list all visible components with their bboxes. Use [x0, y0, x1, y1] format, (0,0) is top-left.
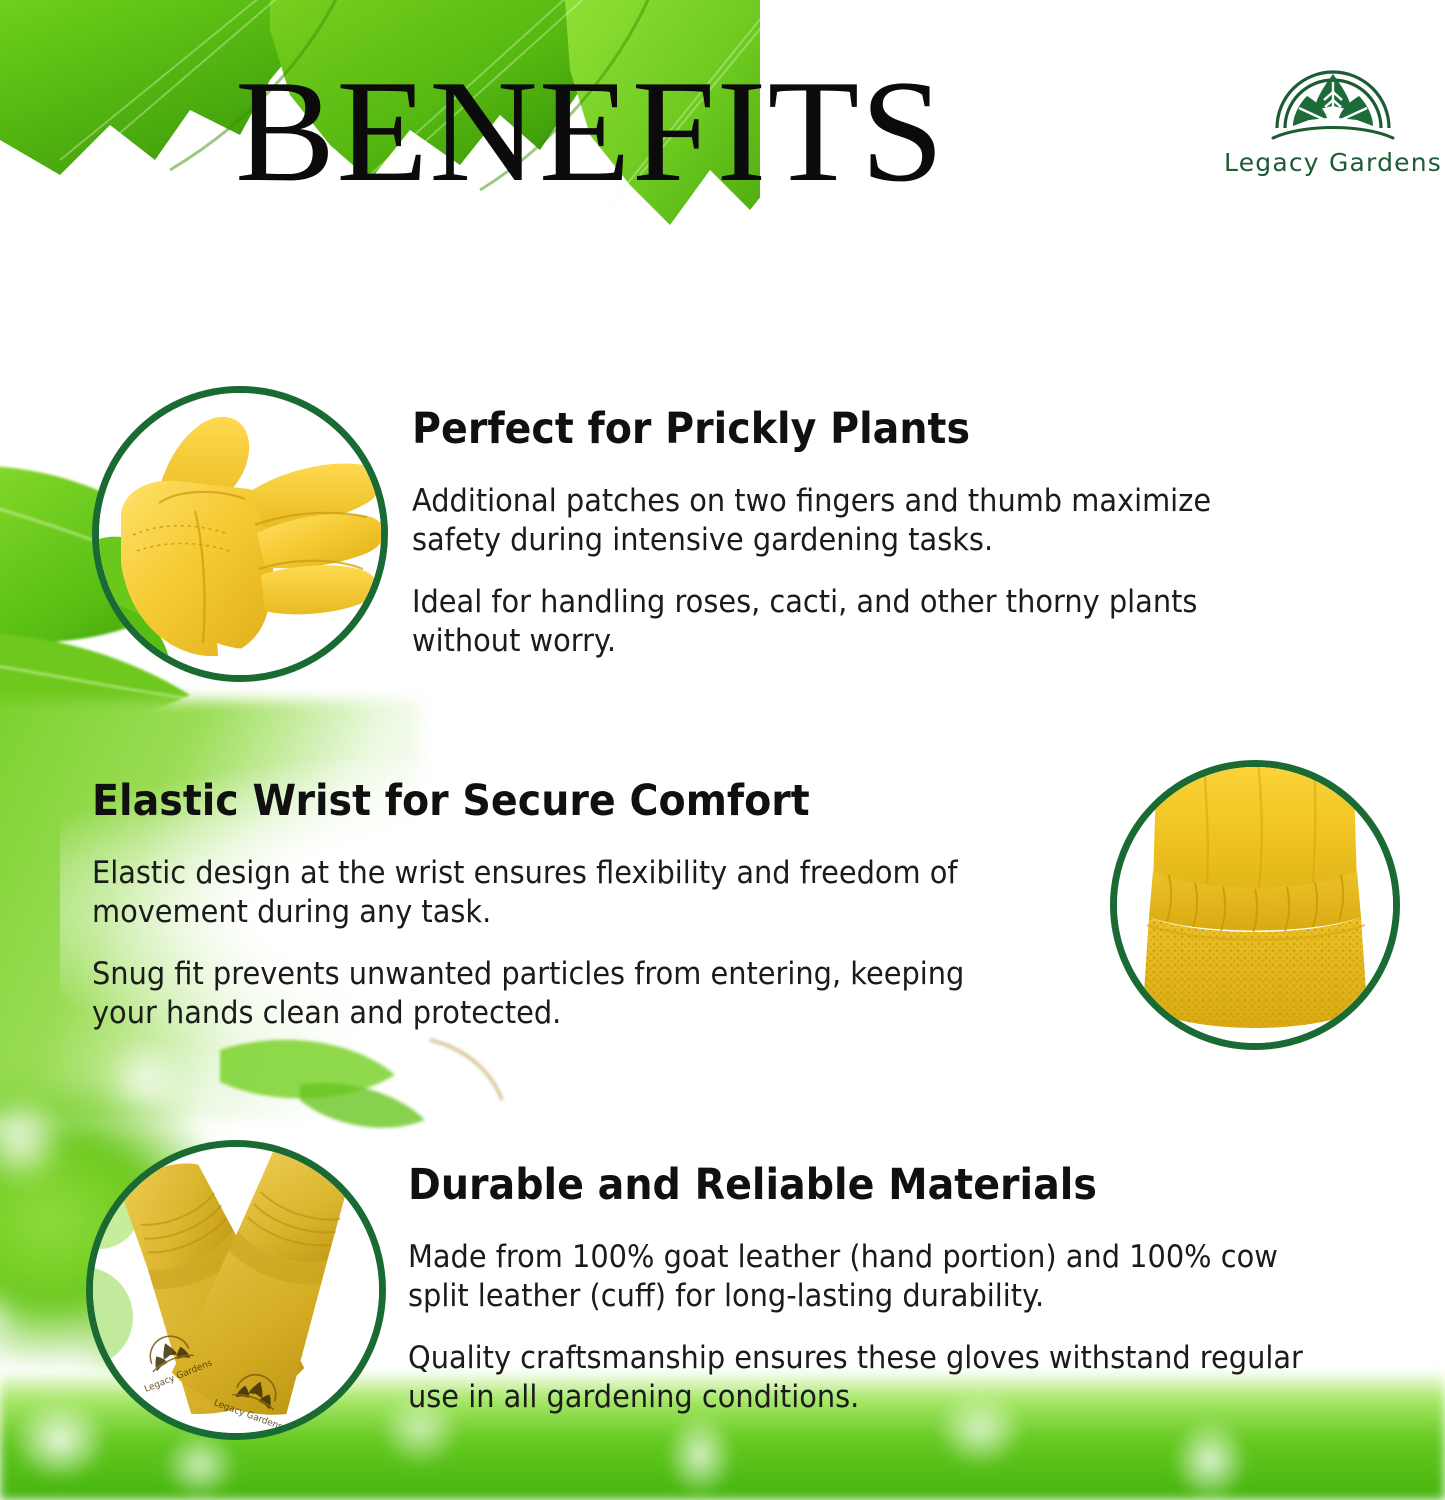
benefits-infographic: BENEFITS Legacy Gardens: [0, 0, 1445, 1500]
benefit-row-durable-materials: Legacy Gardens Legacy Gardens Durable an…: [86, 1140, 1388, 1440]
benefit-image-elastic-wrist: [1110, 760, 1400, 1050]
benefit-heading: Perfect for Prickly Plants: [412, 406, 1295, 452]
benefit-image-prickly-plants: [92, 386, 388, 682]
benefit-paragraph: Quality craftsmanship ensures these glov…: [408, 1339, 1319, 1417]
benefit-heading: Durable and Reliable Materials: [408, 1162, 1310, 1208]
benefit-paragraph: Ideal for handling roses, cacti, and oth…: [412, 583, 1305, 661]
benefit-paragraph: Snug fit prevents unwanted particles fro…: [92, 955, 1022, 1033]
benefit-paragraph: Made from 100% goat leather (hand portio…: [408, 1238, 1319, 1316]
benefit-paragraph: Elastic design at the wrist ensures flex…: [92, 854, 1022, 932]
page-title: BENEFITS: [0, 58, 1198, 204]
benefit-image-durable-materials: Legacy Gardens Legacy Gardens: [86, 1140, 386, 1440]
benefit-copy-durable-materials: Durable and Reliable Materials Made from…: [408, 1140, 1388, 1417]
brand-name: Legacy Gardens: [1224, 148, 1442, 177]
brand-logo: Legacy Gardens: [1227, 58, 1439, 177]
glove-pair-with-gauntlet-cuffs-icon: Legacy Gardens Legacy Gardens: [93, 1147, 379, 1433]
benefit-row-elastic-wrist: Elastic Wrist for Secure Comfort Elastic…: [92, 760, 1400, 1050]
benefit-row-prickly-plants: Perfect for Prickly Plants Additional pa…: [92, 386, 1372, 682]
benefit-copy-prickly-plants: Perfect for Prickly Plants Additional pa…: [412, 386, 1372, 661]
benefit-copy-elastic-wrist: Elastic Wrist for Secure Comfort Elastic…: [92, 760, 1092, 1033]
benefit-paragraph: Additional patches on two fingers and th…: [412, 482, 1305, 560]
glove-elastic-wrist-closeup-icon: [1117, 767, 1393, 1043]
benefit-heading: Elastic Wrist for Secure Comfort: [92, 778, 1012, 824]
legacy-gardens-leaf-arch-icon: [1263, 58, 1403, 146]
glove-palm-closeup-icon: [99, 393, 381, 675]
